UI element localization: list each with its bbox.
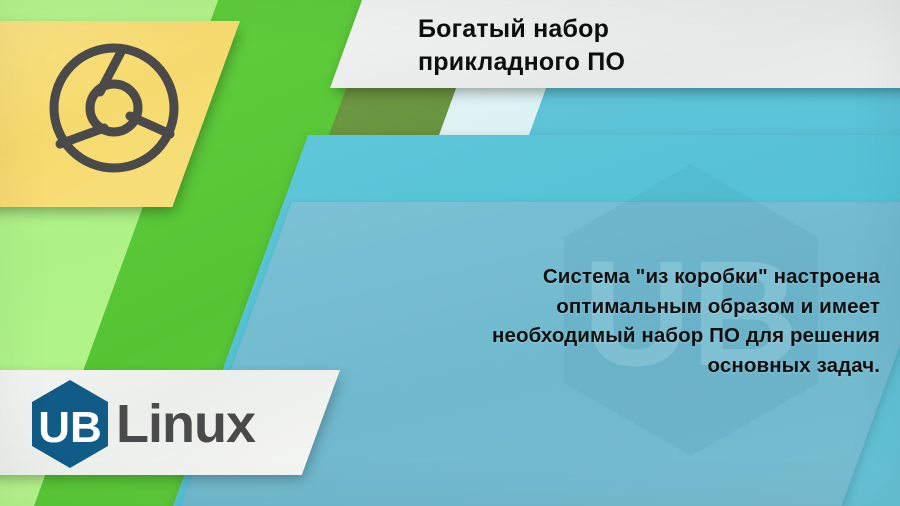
ub-hexagon-icon: UB xyxy=(28,378,112,470)
brand-wordmark: Linux xyxy=(116,397,255,451)
body-line-3: необходимый набор ПО для решения xyxy=(400,321,880,351)
ub-badge-text: UB xyxy=(38,403,102,452)
body-paragraph: Система "из коробки" настроена оптимальн… xyxy=(400,262,880,380)
brand-logo: UB Linux xyxy=(28,378,328,470)
presentation-slide: UB Богатый набор прикладного ПО Система … xyxy=(0,0,900,506)
body-line-2: оптимальным образом и имеет xyxy=(400,292,880,322)
page-title: Богатый набор прикладного ПО xyxy=(418,4,888,88)
body-line-1: Система "из коробки" настроена xyxy=(400,262,880,292)
aperture-icon xyxy=(44,38,184,178)
title-line-1: Богатый набор xyxy=(418,13,888,46)
body-line-4: основных задач. xyxy=(400,351,880,381)
title-line-2: прикладного ПО xyxy=(418,46,888,79)
